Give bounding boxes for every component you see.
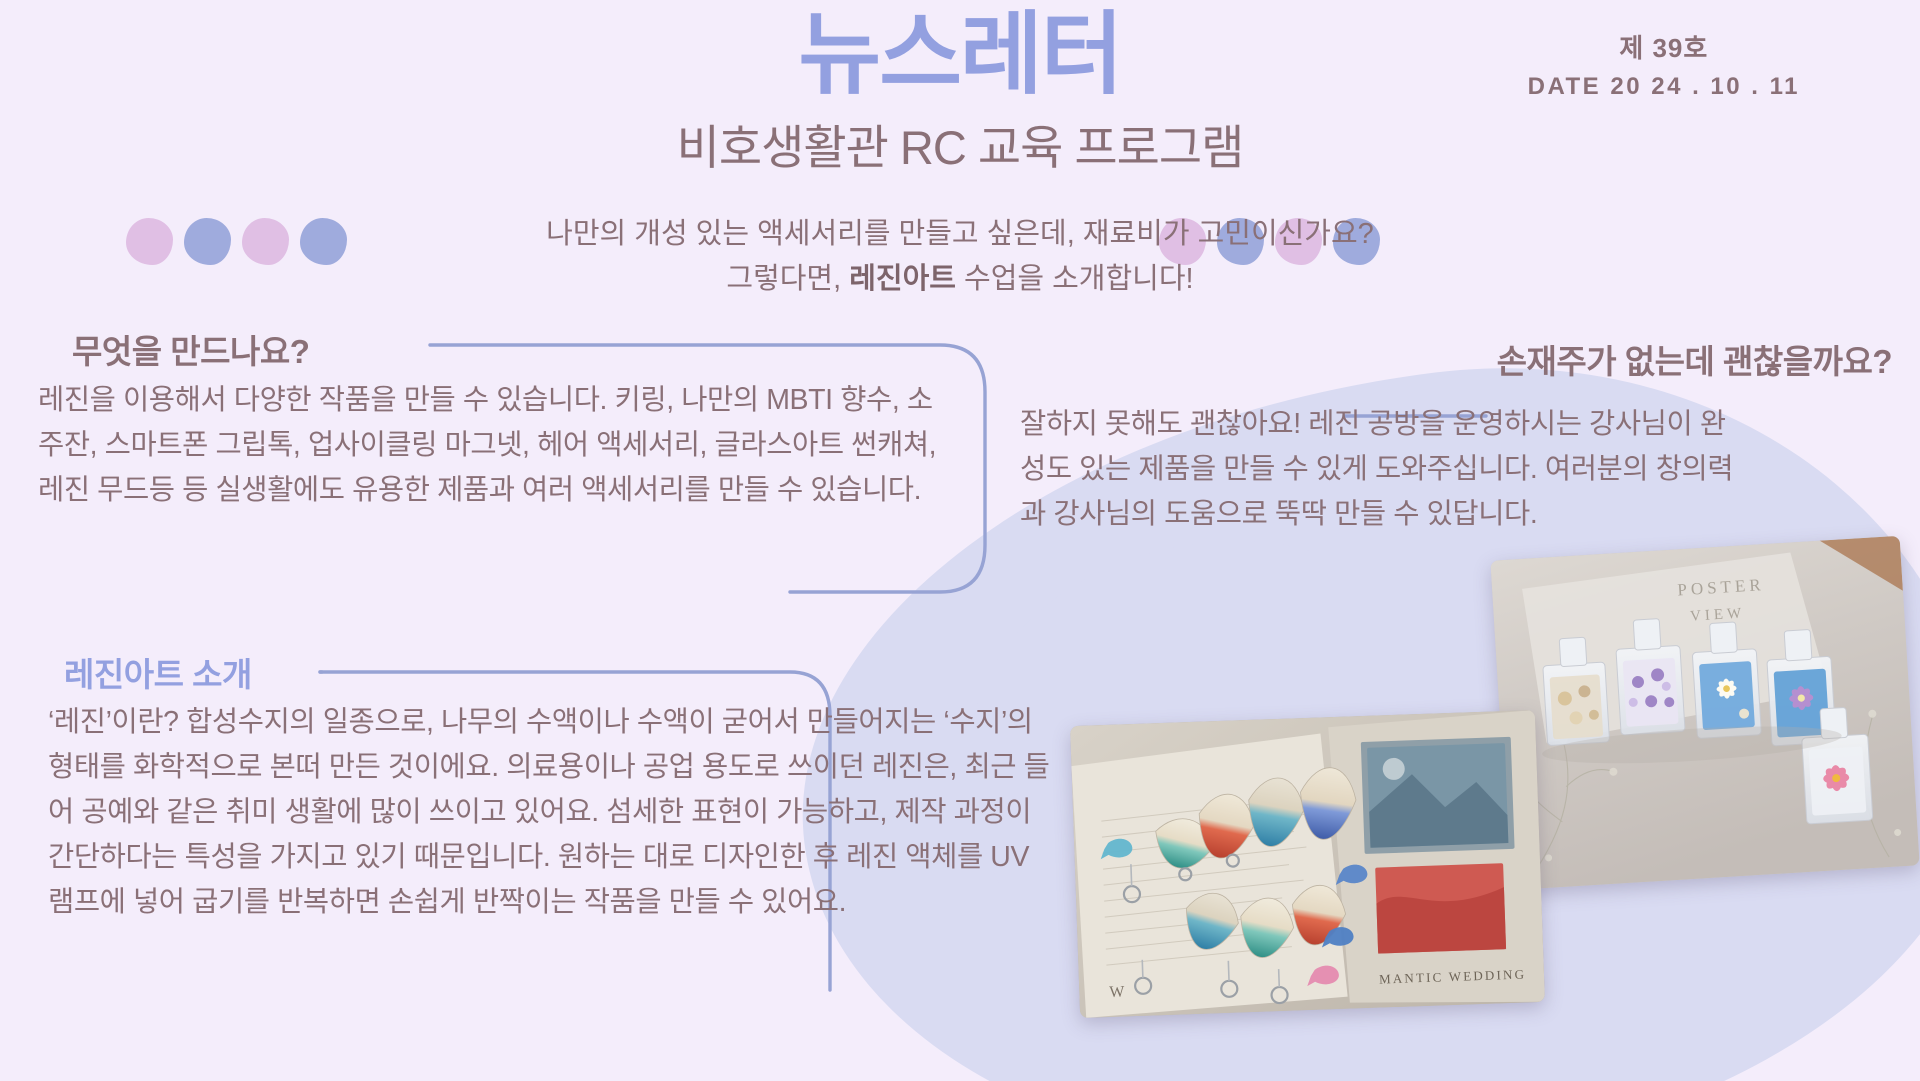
section-body-skill: 잘하지 못해도 괜찮아요! 레진 공방을 운영하시는 강사님이 완성도 있는 제… <box>1020 402 1740 537</box>
page-subtitle: 비호생활관 RC 교육 프로그램 <box>0 109 1920 178</box>
svg-text:W: W <box>1109 983 1126 1001</box>
svg-text:VIEW: VIEW <box>1690 605 1746 624</box>
newsletter-poster: 뉴스레터 비호생활관 RC 교육 프로그램 제 39호 DATE 20 24 .… <box>0 0 1920 1081</box>
issue-number: 제 39호 <box>1528 28 1800 68</box>
lead-line-2-before: 그렇다면, <box>726 263 849 295</box>
section-heading-intro: 레진아트 소개 <box>64 648 252 696</box>
section-body-make: 레진을 이용해서 다양한 작품을 만들 수 있습니다. 키링, 나만의 MBTI… <box>38 378 943 513</box>
lead-line-1: 나만의 개성 있는 액세서리를 만들고 싶은데, 재료비가 고민이신가요? <box>0 212 1920 257</box>
issue-date: DATE 20 24 . 10 . 11 <box>1528 68 1800 105</box>
lead-line-2-after: 수업을 소개합니다! <box>956 263 1194 295</box>
lead-copy: 나만의 개성 있는 액세서리를 만들고 싶은데, 재료비가 고민이신가요? 그렇… <box>0 212 1920 302</box>
photo-resin-surfboard-keyrings: W MANTIC WEDDING <box>1070 710 1545 1018</box>
lead-line-2: 그렇다면, 레진아트 수업을 소개합니다! <box>0 257 1920 302</box>
photo-resin-perfume-bottles: POSTER VIEW <box>1490 536 1919 890</box>
lead-highlight: 레진아트 <box>849 263 956 295</box>
section-heading-make: 무엇을 만드나요? <box>72 325 309 373</box>
section-heading-skill: 손재주가 없는데 괜찮을까요? <box>1497 335 1892 383</box>
section-body-intro: ‘레진’이란? 합성수지의 일종으로, 나무의 수액이나 수액이 굳어서 만들어… <box>48 700 1058 925</box>
issue-info: 제 39호 DATE 20 24 . 10 . 11 <box>1528 28 1800 105</box>
